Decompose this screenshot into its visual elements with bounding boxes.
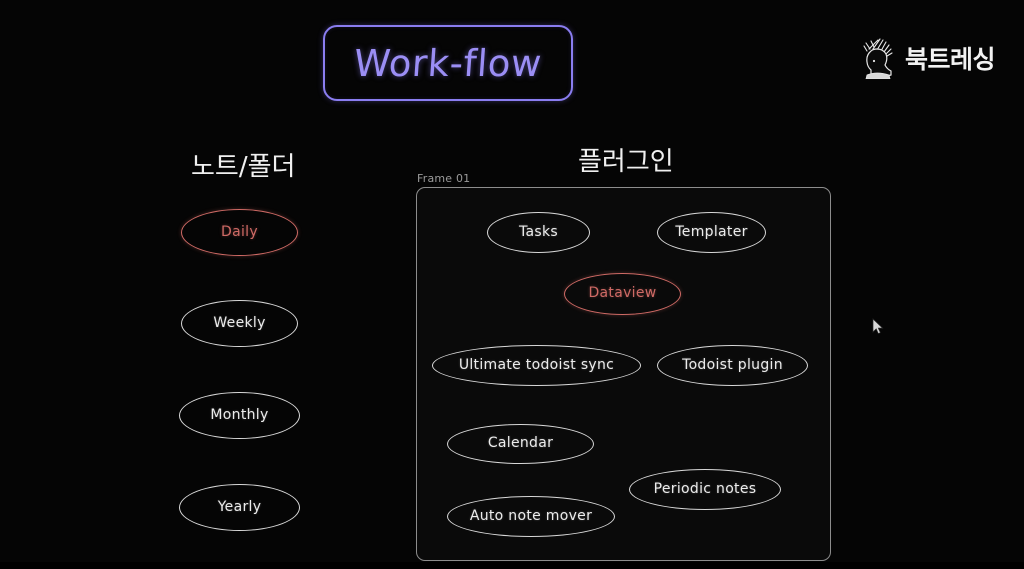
note-node-weekly[interactable]: Weekly bbox=[181, 300, 298, 347]
node-label: Dataview bbox=[588, 285, 656, 301]
node-label: Calendar bbox=[488, 435, 553, 451]
node-label: Yearly bbox=[218, 499, 262, 515]
node-label: Todoist plugin bbox=[682, 357, 783, 373]
node-label: Monthly bbox=[210, 407, 268, 423]
workflow-diagram-canvas: Work-flow 북트레싱 노트/폴더 플러그인 Frame 01 Daily… bbox=[0, 0, 1024, 569]
plugin-node-dataview[interactable]: Dataview bbox=[564, 273, 681, 315]
brand-name: 북트레싱 bbox=[905, 40, 995, 76]
note-node-yearly[interactable]: Yearly bbox=[179, 484, 300, 531]
plugin-node-ultimate-todoist-sync[interactable]: Ultimate todoist sync bbox=[432, 345, 641, 386]
node-label: Auto note mover bbox=[470, 508, 592, 524]
node-label: Weekly bbox=[213, 315, 265, 331]
node-label: Daily bbox=[221, 224, 258, 240]
page-title: Work-flow bbox=[353, 42, 544, 85]
node-label: Tasks bbox=[519, 224, 558, 240]
heading-plugins: 플러그인 bbox=[578, 141, 674, 178]
plugin-node-auto-note-mover[interactable]: Auto note mover bbox=[447, 496, 615, 537]
mouse-pointer-icon bbox=[872, 318, 884, 335]
plugin-node-todoist-plugin[interactable]: Todoist plugin bbox=[657, 345, 808, 386]
bust-portrait-icon bbox=[858, 37, 898, 79]
letterbox-bar bbox=[0, 562, 1024, 569]
plugin-node-periodic-notes[interactable]: Periodic notes bbox=[629, 469, 781, 510]
node-label: Periodic notes bbox=[654, 481, 757, 497]
brand-logo: 북트레싱 bbox=[858, 35, 995, 81]
frame-label: Frame 01 bbox=[417, 172, 470, 185]
plugin-node-tasks[interactable]: Tasks bbox=[487, 212, 590, 253]
title-box: Work-flow bbox=[323, 25, 573, 101]
heading-notes-folders: 노트/폴더 bbox=[191, 146, 295, 183]
plugin-node-templater[interactable]: Templater bbox=[657, 212, 766, 253]
node-label: Ultimate todoist sync bbox=[459, 357, 614, 373]
note-node-daily[interactable]: Daily bbox=[181, 209, 298, 256]
plugin-node-calendar[interactable]: Calendar bbox=[447, 424, 594, 464]
note-node-monthly[interactable]: Monthly bbox=[179, 392, 300, 439]
node-label: Templater bbox=[675, 224, 747, 240]
